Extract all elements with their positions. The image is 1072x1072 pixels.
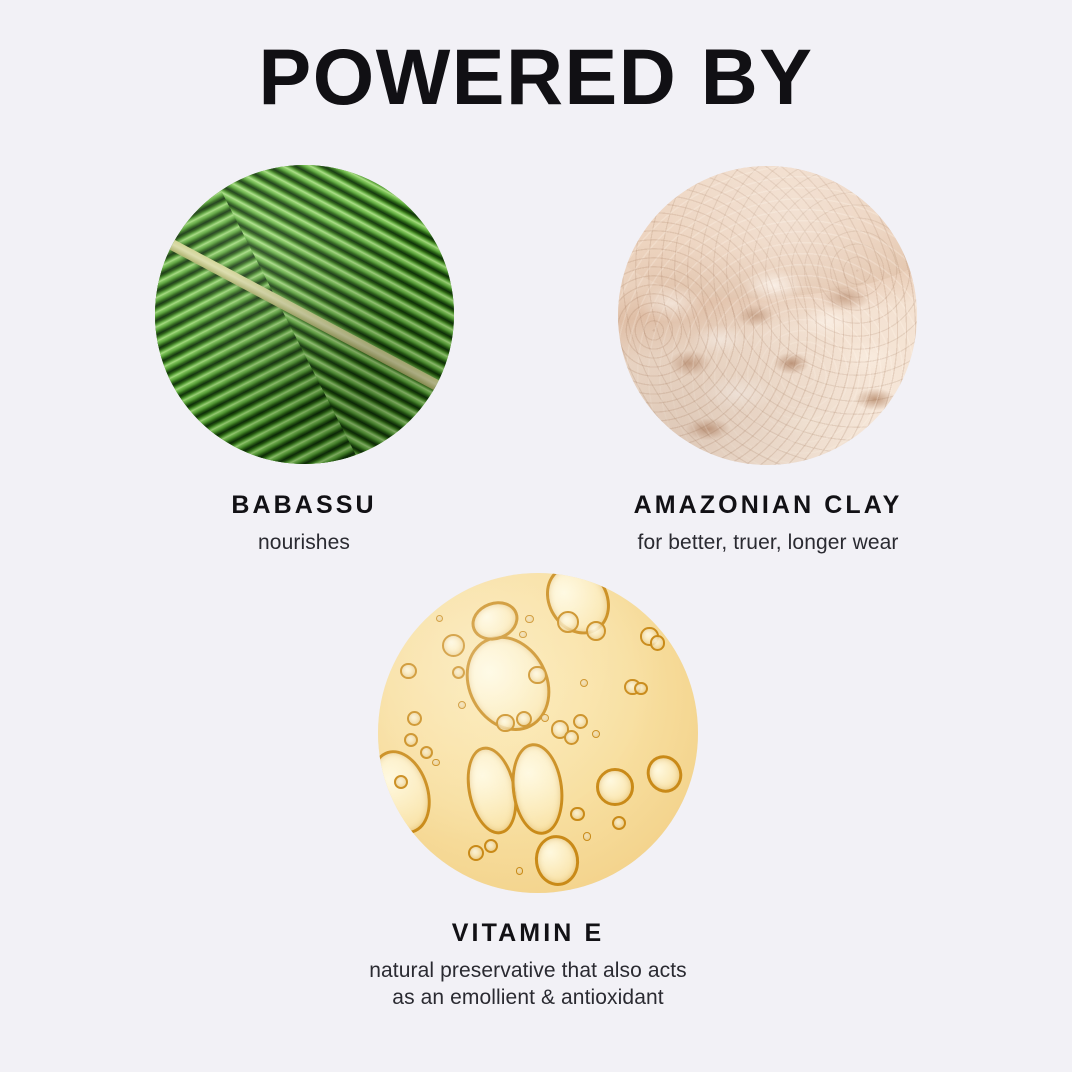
vitamin-e-caption: VITAMIN E natural preservative that also… (232, 920, 824, 1012)
clay-powder-icon (618, 166, 917, 465)
oil-bubbles-icon (378, 573, 698, 893)
powered-by-graphic: POWERED BY BABASSU nourishes (0, 0, 1072, 1072)
palm-frond-icon (155, 165, 454, 464)
amazonian-clay-description: for better, truer, longer wear (464, 529, 1072, 557)
vitamin-e-image (378, 573, 698, 893)
vitamin-e-description-line-1: natural preservative that also acts (232, 957, 824, 985)
amazonian-clay-name: AMAZONIAN CLAY (464, 492, 1072, 520)
vitamin-e-name: VITAMIN E (232, 920, 824, 948)
vitamin-e-description-line-2: as an emollient & antioxidant (232, 984, 824, 1012)
amazonian-clay-image (618, 166, 917, 465)
page-title: POWERED BY (0, 36, 1072, 119)
babassu-image (155, 165, 454, 464)
amazonian-clay-caption: AMAZONIAN CLAY for better, truer, longer… (464, 492, 1072, 556)
